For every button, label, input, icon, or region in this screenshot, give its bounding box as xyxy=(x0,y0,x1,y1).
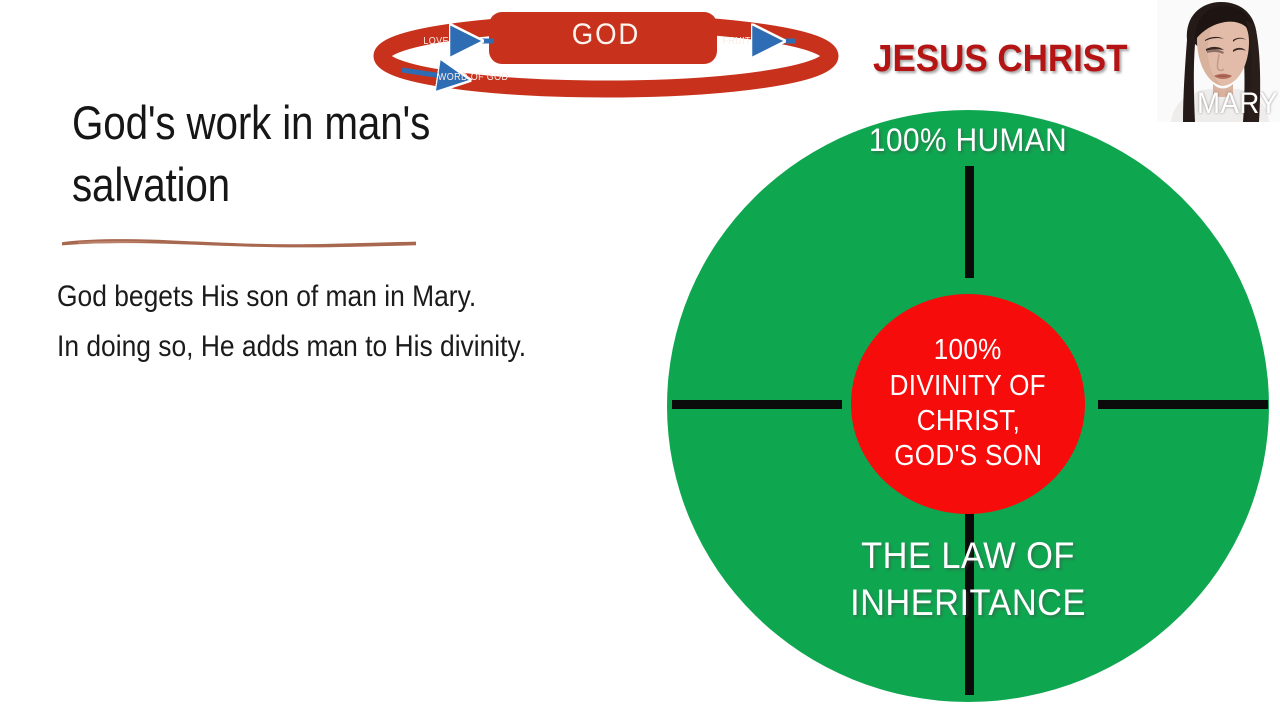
inner-line-4: GOD'S SON xyxy=(894,439,1042,474)
inner-line-3: CHRIST, xyxy=(916,404,1019,439)
divider-brush-stroke xyxy=(60,234,418,250)
god-center-box xyxy=(489,12,717,64)
god-diagram-graphic xyxy=(372,2,840,100)
cross-line-left xyxy=(672,400,842,409)
cross-line-right xyxy=(1098,400,1268,409)
page-title: God's work in man's salvation xyxy=(72,92,519,216)
cross-line-top xyxy=(965,166,974,278)
title-block: God's work in man's salvation xyxy=(72,92,592,216)
body-line-1: God begets His son of man in Mary. xyxy=(57,272,585,322)
inner-line-2: DIVINITY OF xyxy=(890,369,1046,404)
body-line-2: In doing so, He adds man to His divinity… xyxy=(57,322,585,372)
slide-canvas: GOD LOVE WORD OF GOD FRUIT God's work in… xyxy=(0,0,1280,720)
mary-portrait-graphic xyxy=(1157,0,1280,122)
divider-graphic xyxy=(60,234,418,250)
god-cycle-diagram: GOD LOVE WORD OF GOD FRUIT xyxy=(372,2,840,100)
jesus-christ-heading: JESUS CHRIST xyxy=(873,38,1127,81)
cross-line-bottom xyxy=(965,506,974,695)
body-text-block: God begets His son of man in Mary. In do… xyxy=(57,272,657,371)
jesus-christ-circle-diagram: 100% HUMAN 100% DIVINITY OF CHRIST, GOD'… xyxy=(665,108,1271,704)
red-inner-circle: 100% DIVINITY OF CHRIST, GOD'S SON xyxy=(851,294,1085,514)
mary-photo: MARY xyxy=(1157,0,1280,122)
inner-line-1: 100% xyxy=(934,333,1002,368)
